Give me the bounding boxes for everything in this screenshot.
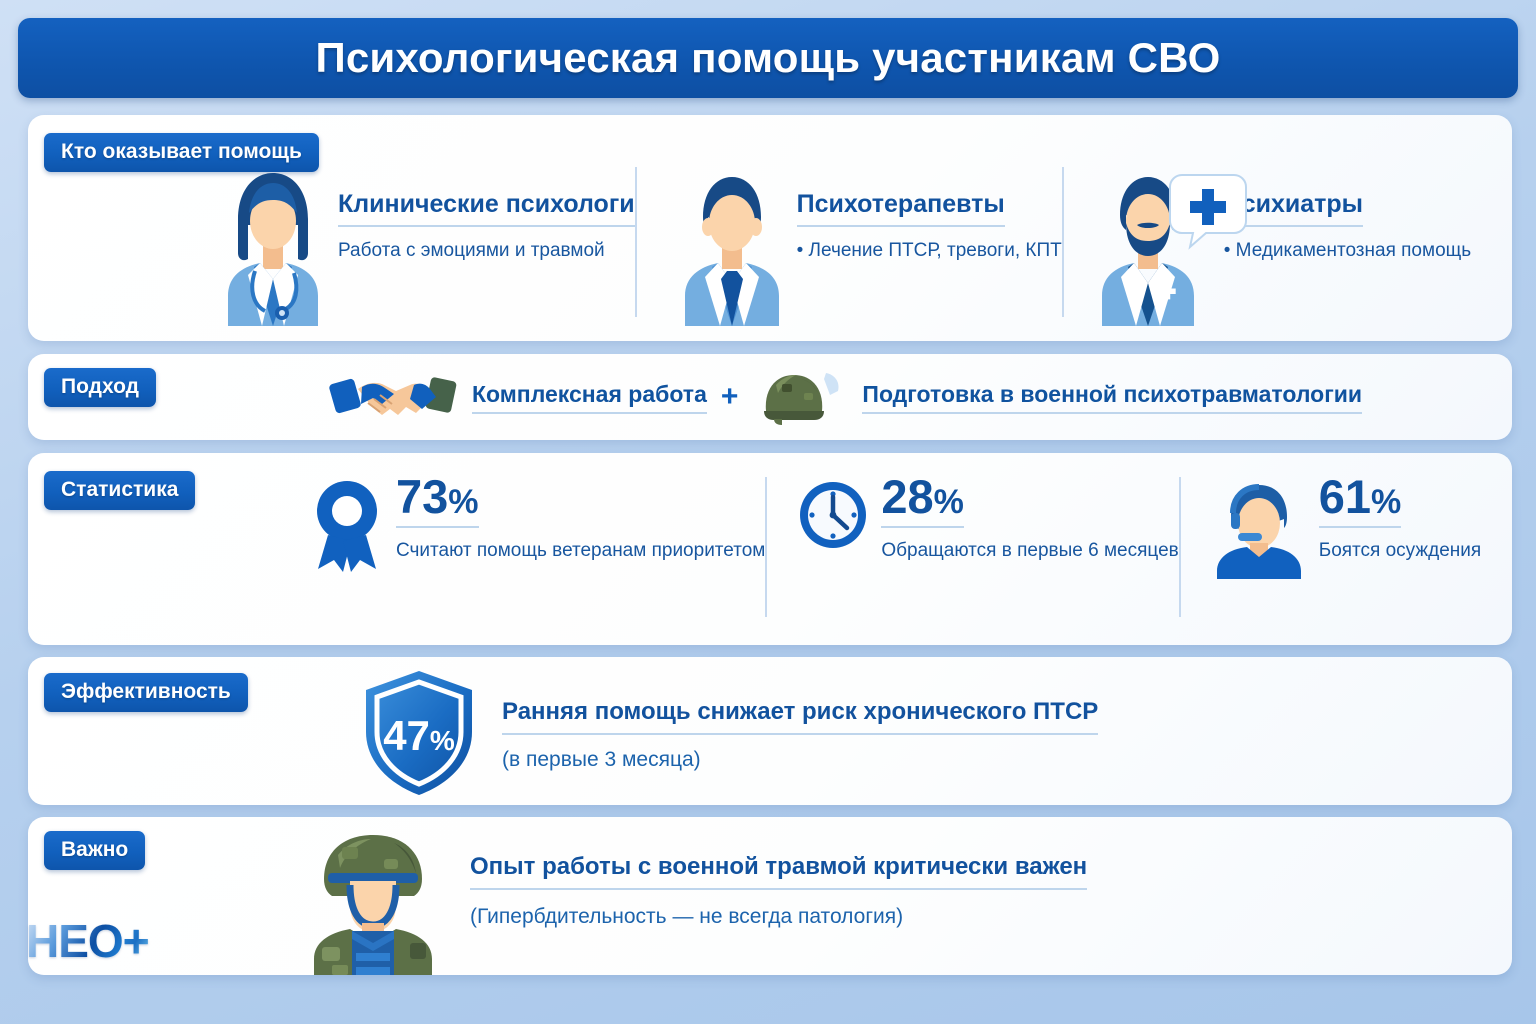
efficacy-main: Ранняя помощь снижает риск хронического … — [502, 698, 1098, 735]
badge-approach: Подход — [44, 368, 156, 407]
provider-name: Клинические психологи — [338, 191, 635, 227]
handshake-icon — [328, 369, 458, 425]
provider-desc: Работа с эмоциями и травмой — [338, 238, 635, 264]
military-helmet-icon — [752, 369, 848, 425]
efficacy-sub: (в первые 3 месяца) — [502, 748, 1098, 772]
badge-statistics: Статистика — [44, 471, 195, 510]
provider-psychiatrists: Психиатры • Медикаментозная помощь — [1062, 161, 1471, 326]
bearded-psychiatrist-avatar — [1094, 161, 1224, 326]
card-efficacy: Эффективность 47% Ранн — [28, 657, 1512, 805]
badge-efficacy: Эффективность — [44, 673, 248, 712]
provider-text: Психиатры • Медикаментозная помощь — [1224, 161, 1471, 263]
stat-item: 28% Обращаются в первые 6 месяцев — [765, 473, 1178, 564]
card-providers: Кто оказывает помощь — [28, 115, 1512, 341]
brand-logo: НЕО+ — [26, 918, 149, 964]
percent-sign: % — [448, 483, 478, 521]
provider-text: Клинические психологи Работа с эмоциями … — [338, 161, 635, 263]
page-title: Психологическая помощь участникам СВО — [315, 34, 1220, 82]
shield-icon: 47% — [358, 668, 480, 798]
stat-label: Обращаются в первые 6 месяцев — [881, 538, 1178, 564]
soldier-avatar — [298, 825, 448, 975]
stat-text: 28% Обращаются в первые 6 месяцев — [881, 473, 1178, 564]
approach-row: Комплексная работа + Подготовка в военно… — [328, 366, 1492, 428]
card-important: Важно — [28, 817, 1512, 975]
badge-important: Важно — [44, 831, 145, 870]
card-approach: Подход Комплексная работа + — [28, 354, 1512, 440]
important-sub: (Гипербдительность — не всегда патология… — [470, 905, 1087, 929]
stat-value: 73% — [396, 473, 479, 528]
female-clinical-psychologist-avatar — [208, 161, 338, 326]
award-ribbon-icon — [308, 473, 386, 583]
efficacy-row: 47% Ранняя помощь снижает риск хроническ… — [358, 675, 1492, 791]
important-row: Опыт работы с военной травмой критически… — [298, 825, 1492, 973]
stat-text: 61% Боятся осуждения — [1319, 473, 1481, 564]
stat-text: 73% Считают помощь ветеранам приоритетом — [396, 473, 765, 564]
provider-desc-text: Медикаментозная помощь — [1236, 240, 1472, 261]
male-psychotherapist-avatar — [667, 161, 797, 326]
logo-text: НЕО — [26, 915, 123, 967]
infographic-page: Психологическая помощь участникам СВО Кт… — [0, 0, 1536, 1024]
approach-left-label: Комплексная работа — [472, 381, 707, 414]
provider-desc-text: Лечение ПТСР, тревоги, КПТ — [809, 240, 1062, 261]
provider-psychotherapists: Психотерапевты • Лечение ПТСР, тревоги, … — [635, 161, 1062, 326]
clock-icon — [795, 473, 871, 553]
efficacy-text: Ранняя помощь снижает риск хронического … — [502, 694, 1098, 772]
person-headset-icon — [1209, 473, 1309, 579]
stat-value: 28% — [881, 473, 964, 528]
percent-sign: % — [934, 483, 964, 521]
provider-clinical-psychologists: Клинические психологи Работа с эмоциями … — [208, 161, 635, 326]
logo-plus-icon: + — [123, 915, 149, 967]
provider-desc: • Медикаментозная помощь — [1224, 238, 1471, 264]
stat-value: 61% — [1319, 473, 1402, 528]
stat-label: Боятся осуждения — [1319, 538, 1481, 564]
provider-desc: • Лечение ПТСР, тревоги, КПТ — [797, 238, 1062, 264]
statistics-list: 73% Считают помощь ветеранам приоритетом — [308, 473, 1498, 638]
important-main: Опыт работы с военной травмой критически… — [470, 853, 1087, 890]
provider-name: Психотерапевты — [797, 191, 1005, 227]
bullet-icon: • — [797, 240, 809, 261]
approach-right-label: Подготовка в военной психотравматологии — [862, 381, 1362, 414]
providers-list: Клинические психологи Работа с эмоциями … — [208, 161, 1502, 333]
stat-item: 61% Боятся осуждения — [1179, 473, 1481, 579]
card-statistics: Статистика 73% Считают помощь ветеранам … — [28, 453, 1512, 645]
percent-sign: % — [1371, 483, 1401, 521]
important-text: Опыт работы с военной травмой критически… — [470, 825, 1087, 929]
stat-item: 73% Считают помощь ветеранам приоритетом — [308, 473, 765, 583]
plus-icon: + — [721, 380, 739, 414]
provider-text: Психотерапевты • Лечение ПТСР, тревоги, … — [797, 161, 1062, 263]
page-header: Психологическая помощь участникам СВО — [18, 18, 1518, 98]
stat-label: Считают помощь ветеранам приоритетом — [396, 538, 765, 564]
